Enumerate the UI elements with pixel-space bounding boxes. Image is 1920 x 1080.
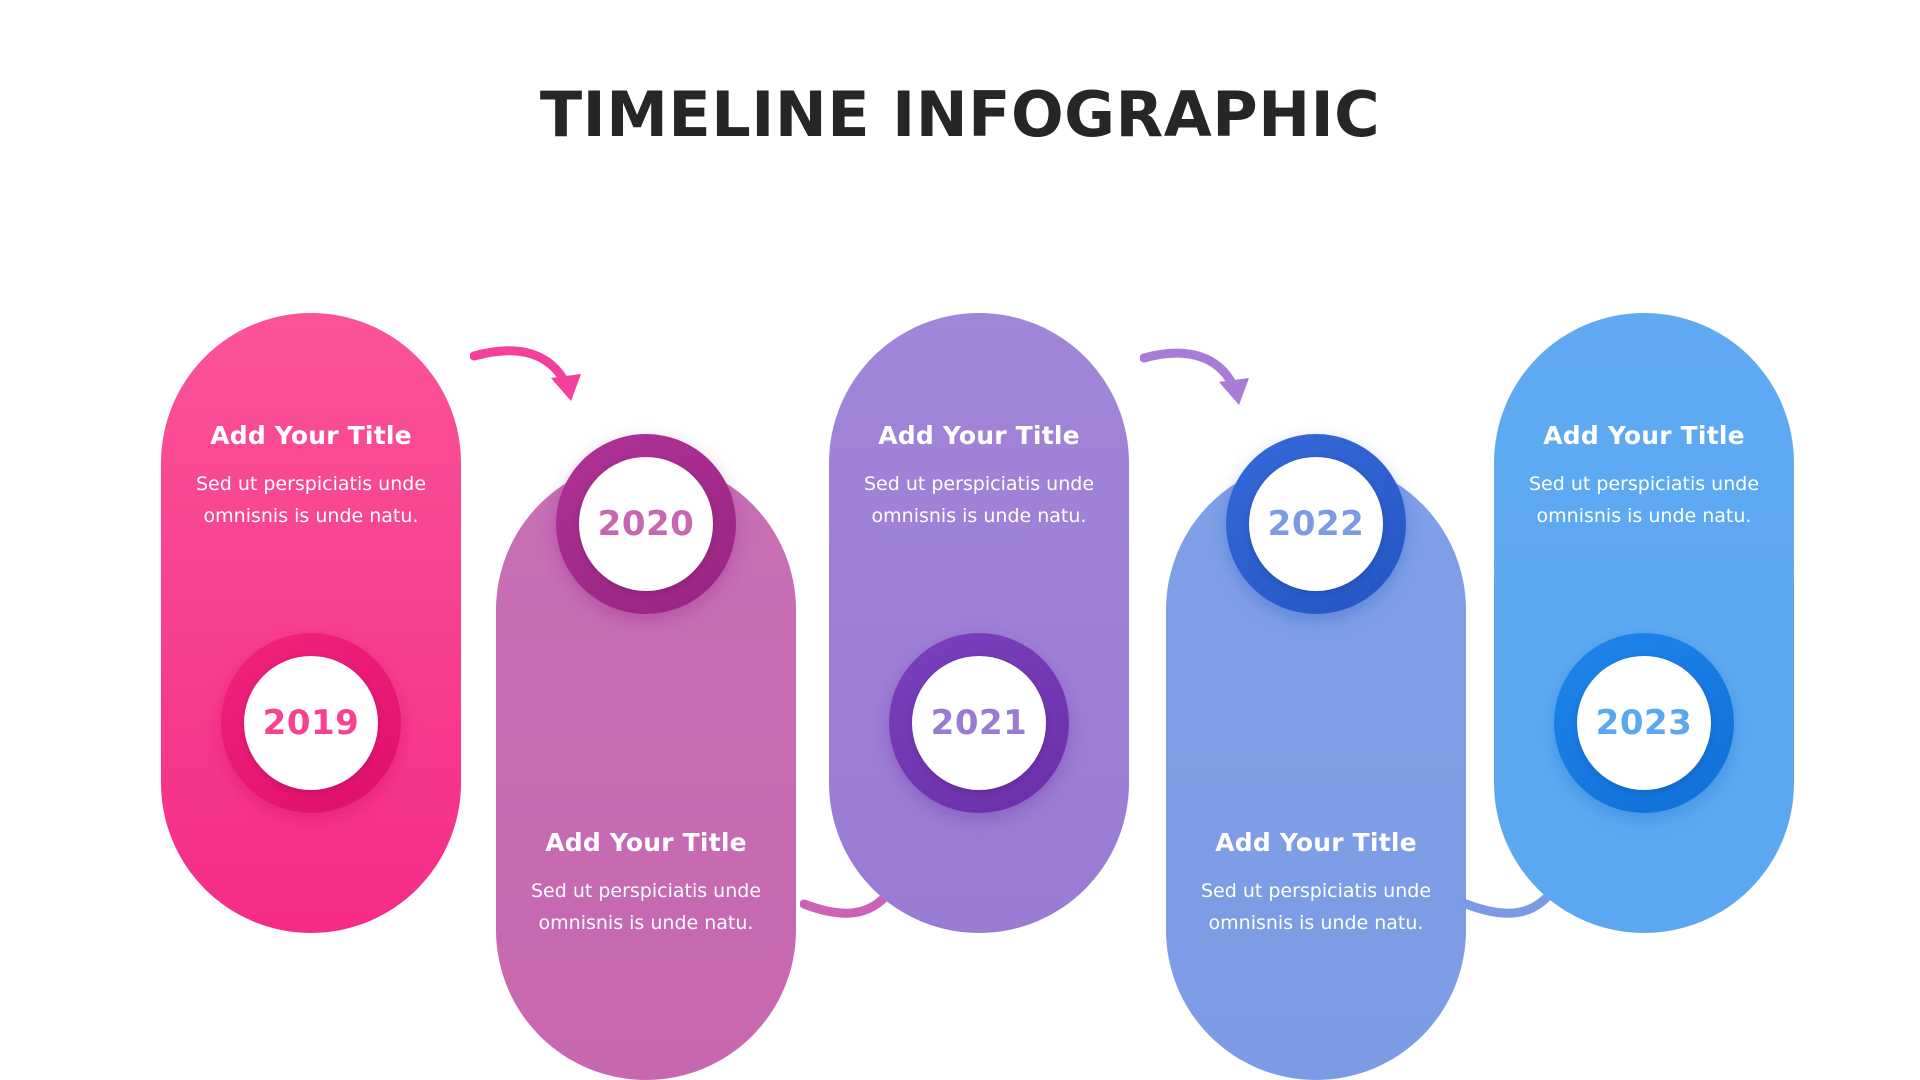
year-badge-2023[interactable]: 2023 <box>1554 633 1734 813</box>
card-description-2021: Sed ut perspiciatis unde omnisnis is und… <box>855 468 1103 532</box>
year-badge-inner-2021: 2021 <box>912 656 1046 790</box>
card-title-2019: Add Your Title <box>187 421 435 450</box>
year-badge-2022[interactable]: 2022 <box>1226 434 1406 614</box>
card-text-block-2020: Add Your Title Sed ut perspiciatis unde … <box>496 828 796 939</box>
year-label-2021: 2021 <box>931 703 1028 743</box>
card-description-2022: Sed ut perspiciatis unde omnisnis is und… <box>1192 875 1440 939</box>
year-badge-inner-2023: 2023 <box>1577 656 1711 790</box>
year-badge-2020[interactable]: 2020 <box>556 434 736 614</box>
card-title-2022: Add Your Title <box>1192 828 1440 857</box>
card-title-2023: Add Your Title <box>1520 421 1768 450</box>
year-badge-inner-2020: 2020 <box>579 457 713 591</box>
timeline-board: Add Your Title Sed ut perspiciatis unde … <box>0 0 1920 1080</box>
timeline-card-2019[interactable]: Add Your Title Sed ut perspiciatis unde … <box>161 313 461 933</box>
card-text-block-2019: Add Your Title Sed ut perspiciatis unde … <box>161 421 461 532</box>
card-text-block-2023: Add Your Title Sed ut perspiciatis unde … <box>1494 421 1794 532</box>
year-label-2019: 2019 <box>263 703 360 743</box>
year-label-2020: 2020 <box>598 504 695 544</box>
card-text-block-2021: Add Your Title Sed ut perspiciatis unde … <box>829 421 1129 532</box>
card-description-2019: Sed ut perspiciatis unde omnisnis is und… <box>187 468 435 532</box>
timeline-card-2021[interactable]: Add Your Title Sed ut perspiciatis unde … <box>829 313 1129 933</box>
year-badge-2021[interactable]: 2021 <box>889 633 1069 813</box>
card-title-2021: Add Your Title <box>855 421 1103 450</box>
year-badge-2019[interactable]: 2019 <box>221 633 401 813</box>
year-badge-inner-2019: 2019 <box>244 656 378 790</box>
card-text-block-2022: Add Your Title Sed ut perspiciatis unde … <box>1166 828 1466 939</box>
card-title-2020: Add Your Title <box>522 828 770 857</box>
connector-arrow-2019-to-2020 <box>470 330 610 430</box>
timeline-card-2023[interactable]: Add Your Title Sed ut perspiciatis unde … <box>1494 313 1794 933</box>
card-description-2020: Sed ut perspiciatis unde omnisnis is und… <box>522 875 770 939</box>
year-label-2022: 2022 <box>1268 504 1365 544</box>
year-badge-inner-2022: 2022 <box>1249 457 1383 591</box>
connector-arrow-2021-to-2022 <box>1140 336 1280 436</box>
card-description-2023: Sed ut perspiciatis unde omnisnis is und… <box>1520 468 1768 532</box>
year-label-2023: 2023 <box>1596 703 1693 743</box>
